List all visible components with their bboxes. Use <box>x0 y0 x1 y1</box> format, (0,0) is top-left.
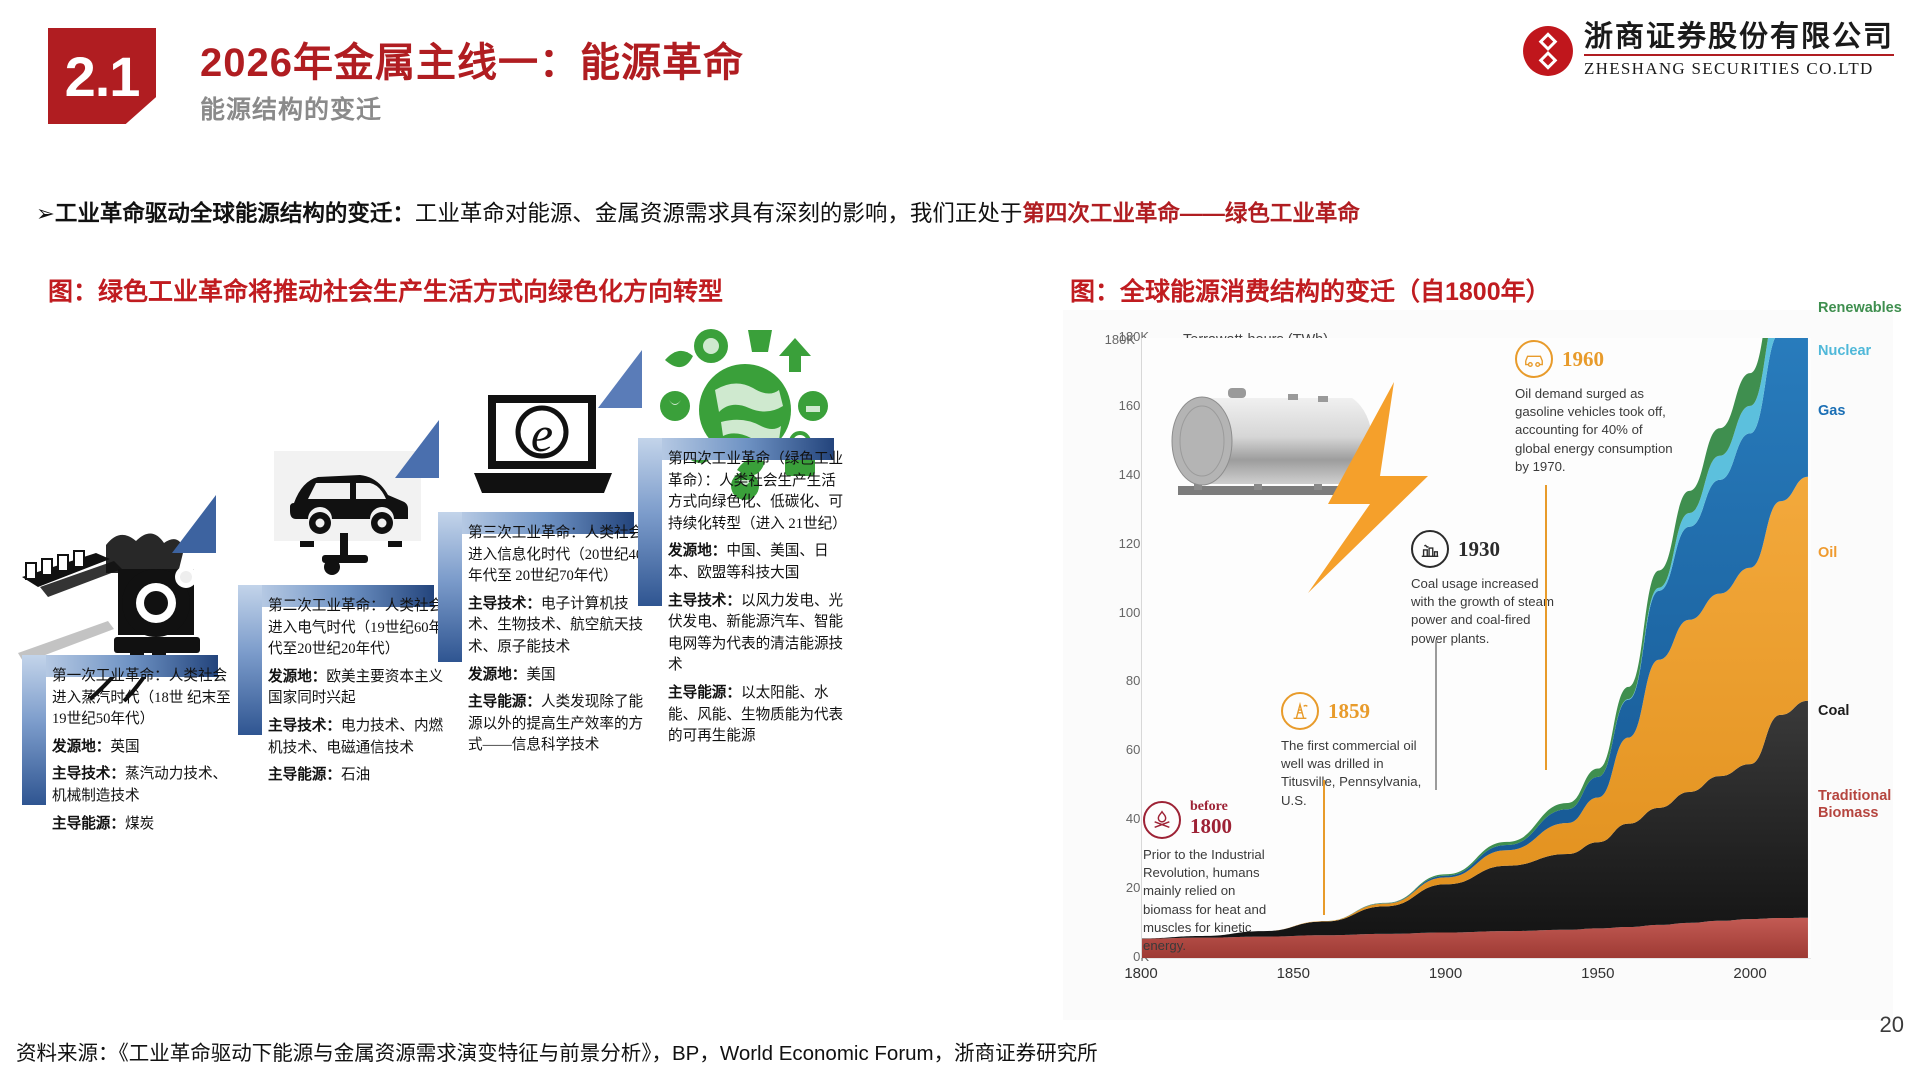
y-tick-label: 120K <box>1079 536 1149 551</box>
rev1-tech-label: 主导技术： <box>52 766 125 782</box>
rev2-headline: 第二次工业革命：人类社会进入电气时代（19世纪60年代至20世纪20年代） <box>268 598 443 657</box>
figure-caption-right: 图：全球能源消费结构的变迁（自1800年） <box>1070 272 1551 308</box>
y-tick-label: 80K <box>1079 673 1149 688</box>
annotation-1859: 1859 The first commercial oil well was d… <box>1281 692 1433 810</box>
y-tick-label: 100K <box>1079 605 1149 620</box>
rev1-energy-label: 主导能源： <box>52 816 125 832</box>
annot2-stem <box>1323 780 1325 915</box>
key-point-bullet: ➢工业革命驱动全球能源结构的变迁：工业革命对能源、金属资源需求具有深刻的影响，我… <box>36 196 1896 228</box>
company-logo: 浙商证券股份有限公司 ZHESHANG SECURITIES CO.LTD <box>1522 22 1894 79</box>
y-tick-label: 160K <box>1079 398 1149 413</box>
annotation-before-1800: before 1800 Prior to the Industrial Revo… <box>1143 800 1271 955</box>
page-title: 2026年金属主线一：能源革命 <box>200 30 744 88</box>
annotation-1960: 1960 Oil demand surged as gasoline vehic… <box>1515 340 1675 476</box>
annot1-text: Prior to the Industrial Revolution, huma… <box>1143 846 1271 955</box>
rev3-origin-label: 发源地： <box>468 667 526 683</box>
annot2-text: The first commercial oil well was drille… <box>1281 737 1433 810</box>
zheshang-logo-icon <box>1522 25 1574 77</box>
series-label: Coal <box>1818 703 1849 719</box>
rev2-energy: 石油 <box>341 767 370 783</box>
slide-header: 2.1 2026年金属主线一：能源革命 能源结构的变迁 浙商证券股份有限公司 Z… <box>0 0 1920 160</box>
annot3-year: 1930 <box>1458 537 1500 562</box>
logo-english-name: ZHESHANG SECURITIES CO.LTD <box>1584 59 1894 79</box>
rev1-origin-label: 发源地： <box>52 739 110 755</box>
y-tick-label: 20K <box>1079 880 1149 895</box>
annot1-prefix: before <box>1190 800 1232 814</box>
rev4-headline: 第四次工业革命（绿色工业革命）：人类社会生产生活方式向绿色化、低碳化、可持续化转… <box>668 451 847 532</box>
annot1-year: 1800 <box>1190 814 1232 839</box>
rev2-origin-label: 发源地： <box>268 669 326 685</box>
rev2-energy-label: 主导能源： <box>268 767 341 783</box>
source-footnote: 资料来源：《工业革命驱动下能源与金属资源需求演变特征与前景分析》，BP，Worl… <box>16 1036 1098 1066</box>
y-tick-label: 60K <box>1079 742 1149 757</box>
rev4-energy-label: 主导能源： <box>668 685 741 701</box>
y-tick-label: 40K <box>1079 811 1149 826</box>
coal-plant-icon <box>1411 530 1449 568</box>
chevron-arrow-2 <box>395 420 439 478</box>
x-tick-label: 1800 <box>1124 965 1157 982</box>
annot3-text: Coal usage increased with the growth of … <box>1411 575 1561 648</box>
energy-consumption-chart: 180K Terrawatt-hours (TWh) 0K20K40K60K80… <box>1063 310 1893 1020</box>
series-label: Oil <box>1818 545 1837 561</box>
annotation-1930: 1930 Coal usage increased with the growt… <box>1411 530 1561 648</box>
x-tick-label: 1950 <box>1581 965 1614 982</box>
campfire-icon <box>1143 801 1181 839</box>
rev1-origin: 英国 <box>110 739 139 755</box>
bullet-body-text: 工业革命对能源、金属资源需求具有深刻的影响，我们正处于 <box>415 201 1023 226</box>
page-number: 20 <box>1880 1012 1904 1038</box>
rev3-origin: 美国 <box>526 667 555 683</box>
rev3-energy-label: 主导能源： <box>468 694 541 710</box>
annot2-year: 1859 <box>1328 699 1370 724</box>
annot4-stem <box>1545 485 1547 770</box>
series-label: Gas <box>1818 403 1845 419</box>
bullet-arrow-icon: ➢ <box>36 201 55 226</box>
annot4-year: 1960 <box>1562 347 1604 372</box>
chevron-arrow-3 <box>598 350 642 408</box>
laptop-icon: e <box>470 385 615 510</box>
rev1-energy: 煤炭 <box>125 816 154 832</box>
annot4-text: Oil demand surged as gasoline vehicles t… <box>1515 385 1675 476</box>
series-label: Nuclear <box>1818 343 1871 359</box>
rev4-tech-label: 主导技术： <box>668 593 741 609</box>
y-tick-label: 0K <box>1079 949 1149 964</box>
gridline <box>1141 958 1811 959</box>
bullet-lead-text: 工业革命驱动全球能源结构的变迁： <box>55 201 415 226</box>
industrial-revolution-diagram: e <box>0 310 1050 1050</box>
rev1-headline: 第一次工业革命：人类社会进入蒸汽时代（18世 纪末至 19世纪50年代） <box>52 668 231 727</box>
rev3-headline: 第三次工业革命：人类社会进入信息化时代（20世纪40 年代至 20世纪70年代） <box>468 525 643 584</box>
car-icon <box>1515 340 1553 378</box>
page-subtitle: 能源结构的变迁 <box>200 90 382 126</box>
chevron-arrow-1 <box>172 495 216 553</box>
rev3-tech-label: 主导技术： <box>468 596 541 612</box>
y-tick-label: 140K <box>1079 467 1149 482</box>
rev2-tech-label: 主导技术： <box>268 718 341 734</box>
x-tick-label: 2000 <box>1733 965 1766 982</box>
logo-chinese-name: 浙商证券股份有限公司 <box>1584 22 1894 56</box>
section-number-badge: 2.1 <box>48 28 156 124</box>
figure-caption-left: 图：绿色工业革命将推动社会生产生活方式向绿色化方向转型 <box>48 272 723 308</box>
rev4-origin-label: 发源地： <box>668 543 726 559</box>
y-tick-label: 180K <box>1079 329 1149 344</box>
x-tick-label: 1900 <box>1429 965 1462 982</box>
series-label: Renewables <box>1818 300 1902 316</box>
x-tick-label: 1850 <box>1277 965 1310 982</box>
series-label: Traditional Biomass <box>1818 788 1896 821</box>
bullet-accent-text: 第四次工业革命——绿色工业革命 <box>1022 201 1360 226</box>
oil-derrick-icon <box>1281 692 1319 730</box>
annot3-stem <box>1435 640 1437 790</box>
